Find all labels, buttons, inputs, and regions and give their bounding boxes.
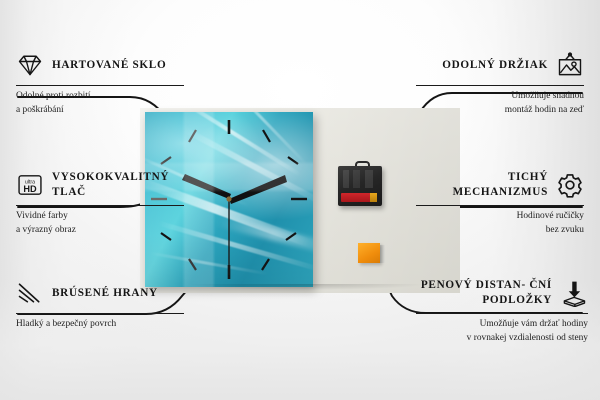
foam-spacer (358, 243, 380, 263)
feature-silent-mechanism: TICHÝ MECHANIZMUS Hodinové ručičky bez z… (416, 168, 584, 237)
feature-header: BRÚSENÉ HRANY (16, 276, 184, 310)
feature-divider (416, 313, 588, 314)
clock-minute-hand (229, 175, 287, 204)
feature-durable-holder: ODOLNÝ DRŽIAK Umožňuje snadnou montáž ho… (416, 48, 584, 117)
mechanism-body (338, 166, 382, 206)
clock-center-cap (226, 196, 231, 201)
feature-description: Hladký a bezpečný povrch (16, 318, 184, 332)
feature-tempered-glass: HARTOVANÉ SKLO Odolné proti rozbití a po… (16, 48, 184, 117)
feature-header: HARTOVANÉ SKLO (16, 48, 184, 82)
foam-spacer-top (358, 243, 380, 263)
feature-title: BRÚSENÉ HRANY (52, 286, 158, 301)
mechanism-panel-detail (343, 170, 377, 188)
feature-description: Umožňuje snadnou montáž hodin na zeď (416, 90, 584, 117)
clock-mechanism (338, 166, 382, 206)
picture-frame-icon (556, 51, 584, 79)
feature-title: HARTOVANÉ SKLO (52, 58, 166, 73)
clock-tick-11 (189, 130, 196, 142)
product-infographic: HARTOVANÉ SKLO Odolné proti rozbití a po… (0, 0, 600, 400)
clock-tick-5 (262, 259, 269, 270)
feature-description: Vividné farby a výrazný obraz (16, 210, 184, 237)
ground-edges-icon (16, 279, 44, 307)
feature-ground-edges: BRÚSENÉ HRANY Hladký a bezpečný povrch (16, 276, 184, 332)
feature-header: ODOLNÝ DRŽIAK (416, 48, 584, 82)
svg-text:HD: HD (23, 184, 37, 194)
feature-divider (16, 205, 184, 206)
battery-terminal (370, 193, 377, 202)
feature-divider (16, 85, 184, 86)
feature-description: Umožňuje vám držať hodiny v rovnakej vzd… (416, 318, 588, 345)
spacer-stack-icon (560, 279, 588, 307)
clock-tick-4 (286, 233, 296, 240)
feature-header: TICHÝ MECHANIZMUS (416, 168, 584, 202)
feature-header: PENOVÝ DISTAN- ČNÍ PODLOŽKY (416, 276, 588, 310)
feature-description: Odolné proti rozbití a poškrábání (16, 90, 184, 117)
feature-header: ultra HD VYSOKOKVALITNÝ TLAČ (16, 168, 184, 202)
ultra-hd-icon: ultra HD (16, 171, 44, 199)
clock-hour-hand (182, 174, 231, 199)
clock-tick-2 (288, 157, 298, 164)
gear-icon (556, 171, 584, 199)
feature-foam-spacers: PENOVÝ DISTAN- ČNÍ PODLOŽKY Umožňuje vám… (416, 276, 588, 345)
product-photo (140, 108, 460, 293)
mechanism-battery (341, 193, 377, 202)
feature-title: ODOLNÝ DRŽIAK (442, 58, 548, 73)
feature-divider (16, 313, 184, 314)
feature-title: VYSOKOKVALITNÝ TLAČ (52, 170, 184, 200)
diamond-icon (16, 51, 44, 79)
clock-tick-10 (161, 157, 171, 164)
clock-tick-7 (189, 259, 196, 270)
feature-title: PENOVÝ DISTAN- ČNÍ PODLOŽKY (416, 278, 552, 308)
feature-description: Hodinové ručičky bez zvuku (416, 210, 584, 237)
feature-title: TICHÝ MECHANIZMUS (416, 170, 548, 200)
feature-high-quality-print: ultra HD VYSOKOKVALITNÝ TLAČ Vividné far… (16, 168, 184, 237)
clock-tick-1 (263, 130, 270, 142)
feature-divider (416, 205, 584, 206)
feature-divider (416, 85, 584, 86)
